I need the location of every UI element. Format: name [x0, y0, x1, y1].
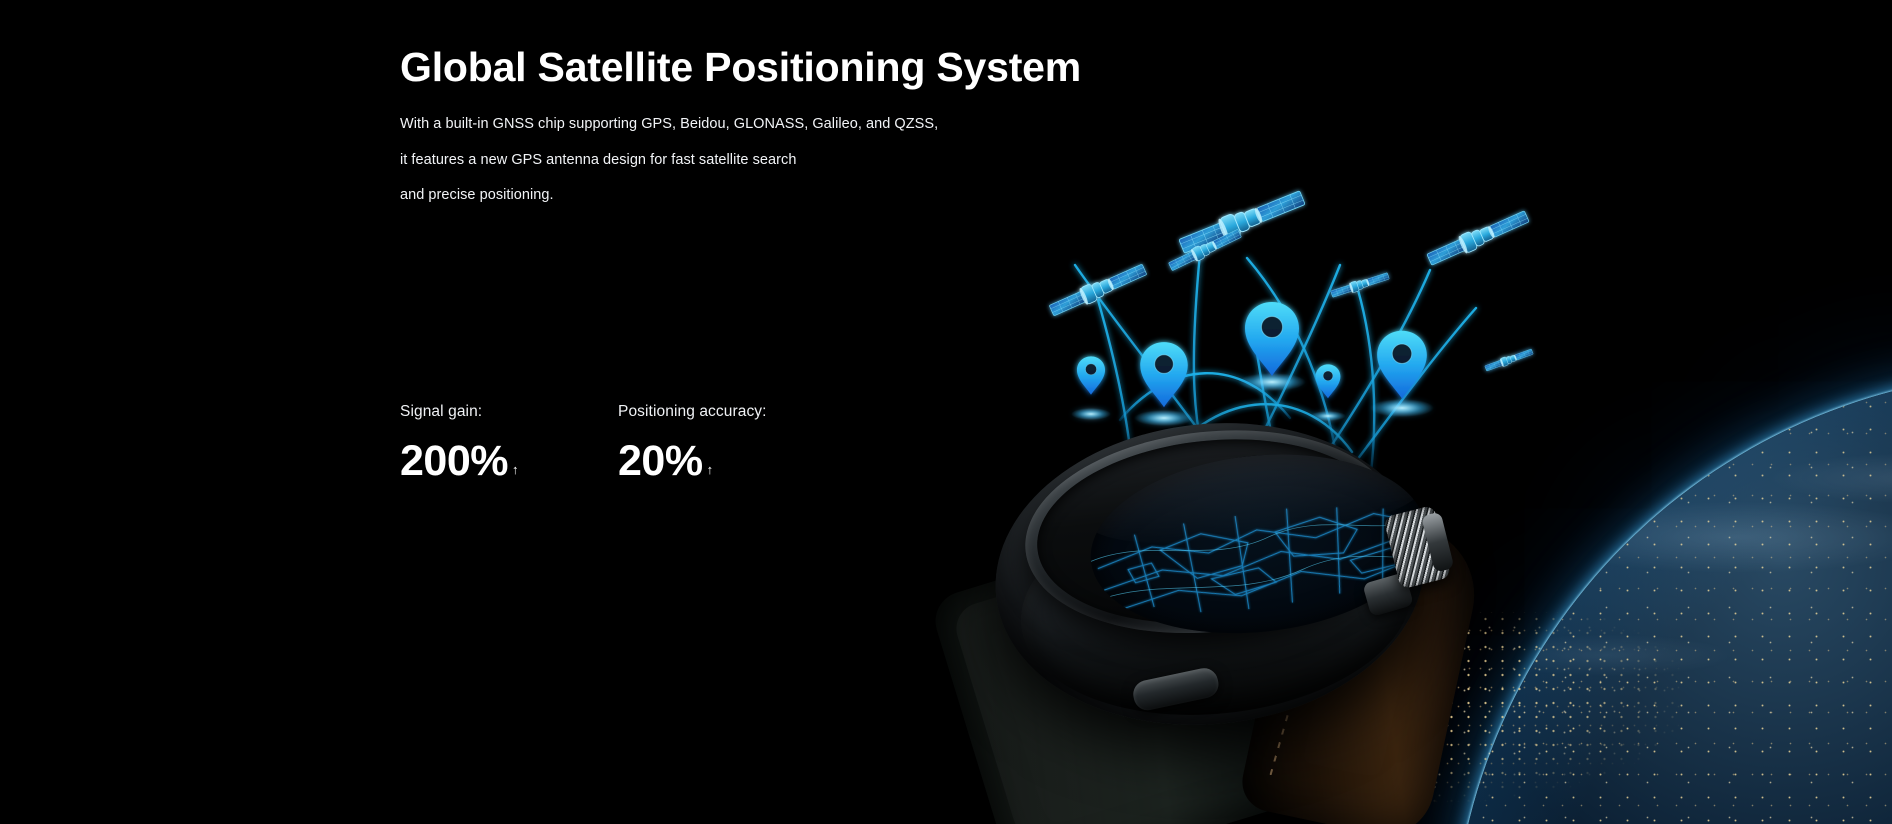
- hero-text-block: Global Satellite Positioning System With…: [400, 44, 1160, 203]
- description-line: it features a new GPS antenna design for…: [400, 153, 1160, 168]
- stat-label: Signal gain:: [400, 404, 618, 420]
- stat-signal-gain: Signal gain: 200% ↑: [400, 404, 618, 481]
- page-title: Global Satellite Positioning System: [400, 44, 1160, 91]
- stat-positioning-accuracy: Positioning accuracy: 20% ↑: [618, 404, 767, 481]
- hero-description: With a built-in GNSS chip supporting GPS…: [400, 117, 1160, 203]
- map-pins: [975, 398, 1635, 824]
- description-line: and precise positioning.: [400, 188, 1160, 203]
- arrow-up-icon: ↑: [707, 463, 714, 476]
- description-line: With a built-in GNSS chip supporting GPS…: [400, 117, 1160, 132]
- stats-group: Signal gain: 200% ↑ Positioning accuracy…: [400, 404, 767, 481]
- stat-value-row: 200% ↑: [400, 442, 618, 482]
- hero-section: Global Satellite Positioning System With…: [0, 0, 1892, 824]
- stat-label: Positioning accuracy:: [618, 404, 767, 420]
- stat-value-row: 20% ↑: [618, 442, 767, 482]
- stat-value: 20%: [618, 442, 703, 482]
- smartwatch: [975, 398, 1635, 824]
- arrow-up-icon: ↑: [512, 463, 519, 476]
- stat-value: 200%: [400, 442, 508, 482]
